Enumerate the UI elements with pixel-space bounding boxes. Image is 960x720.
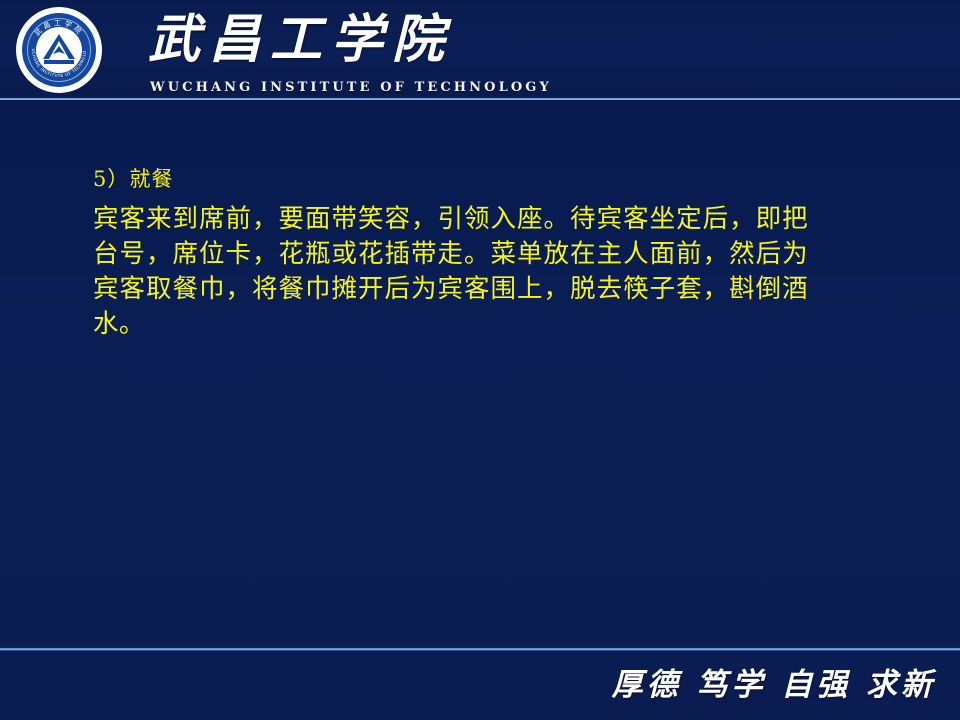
emblem-arch-icon: [38, 29, 80, 71]
svg-text:WUCHANG INSTITUTE OF TECHNOLOG: WUCHANG INSTITUTE OF TECHNOLOGY: [22, 13, 87, 78]
header-divider-line: [0, 98, 960, 100]
school-name-chinese: 武昌工学院: [148, 6, 453, 74]
body-paragraph: 宾客来到席前，要面带笑容，引领入座。待宾客坐定后，即把台号，席位卡，花瓶或花插带…: [93, 202, 808, 342]
slide-footer: 厚德 笃学 自强 求新: [0, 651, 960, 720]
logo-outer-ring: 武昌工学院 WUCHANG INSTITUTE OF TECHNOLOGY: [22, 13, 96, 87]
svg-text:武昌工学院: 武昌工学院: [32, 19, 85, 38]
university-motto: 厚德 笃学 自强 求新: [612, 659, 936, 704]
logo-ring-text: 武昌工学院 WUCHANG INSTITUTE OF TECHNOLOGY: [22, 13, 96, 87]
slide-header: 武昌工学院 WUCHANG INSTITUTE OF TECHNOLOGY 武昌…: [0, 0, 960, 100]
section-heading: 5）就餐: [93, 163, 808, 196]
presentation-slide: 武昌工学院 WUCHANG INSTITUTE OF TECHNOLOGY 武昌…: [0, 0, 960, 720]
slide-content: 5）就餐 宾客来到席前，要面带笑容，引领入座。待宾客坐定后，即把台号，席位卡，花…: [93, 163, 808, 342]
logo-center-emblem: [36, 27, 82, 73]
university-logo: 武昌工学院 WUCHANG INSTITUTE OF TECHNOLOGY: [16, 7, 102, 93]
school-name-english: WUCHANG INSTITUTE OF TECHNOLOGY: [150, 80, 552, 95]
